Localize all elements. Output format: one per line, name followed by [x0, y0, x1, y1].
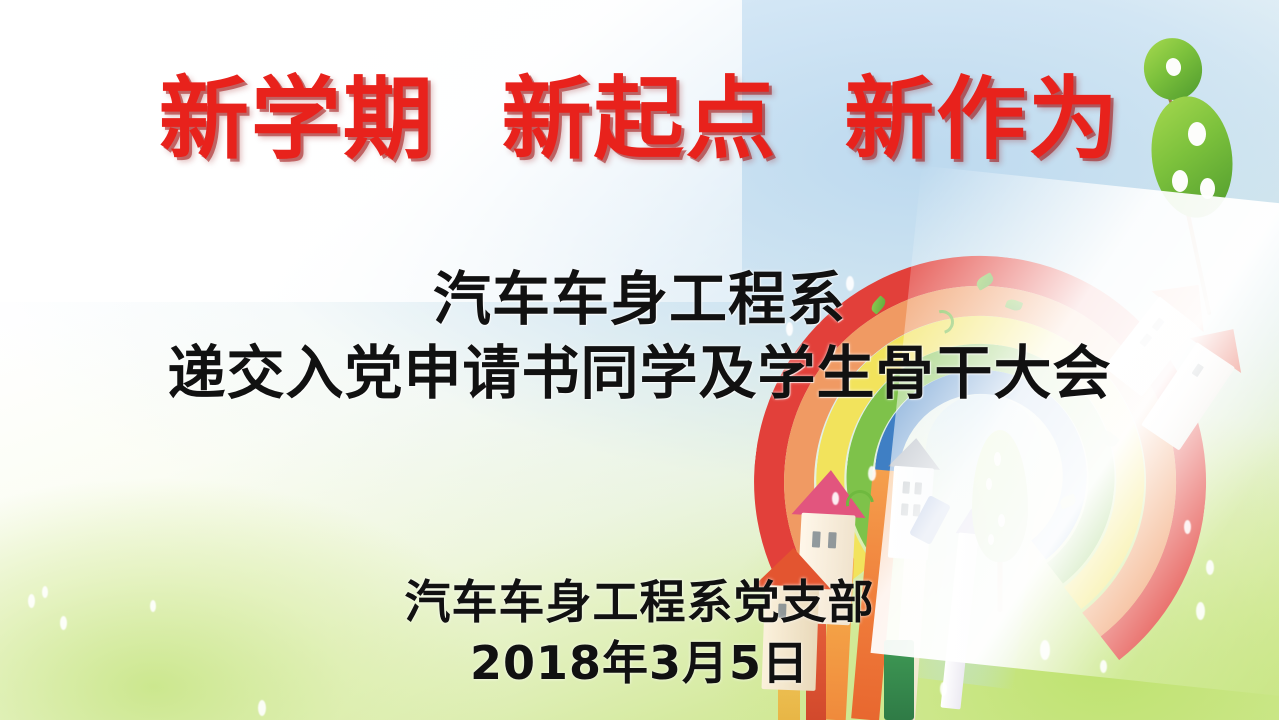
bokeh-dot: [868, 466, 876, 481]
footer-organization: 汽车车身工程系党支部: [0, 572, 1279, 633]
event-poster: 新学期 新起点 新作为 汽车车身工程系 递交入党申请书同学及学生骨干大会 汽车车…: [0, 0, 1279, 720]
page-title: 新学期 新起点 新作为: [0, 46, 1279, 176]
footer-block: 汽车车身工程系党支部 2018年3月5日: [0, 572, 1279, 693]
subtitle-line-2: 递交入党申请书同学及学生骨干大会: [0, 336, 1279, 410]
bokeh-dot: [258, 700, 266, 716]
house-window: [812, 531, 821, 547]
footer-date: 2018年3月5日: [0, 633, 1279, 694]
bokeh-dot: [832, 492, 839, 505]
house-window: [828, 532, 837, 548]
subtitle-block: 汽车车身工程系 递交入党申请书同学及学生骨干大会: [0, 262, 1279, 410]
subtitle-line-1: 汽车车身工程系: [0, 262, 1279, 336]
